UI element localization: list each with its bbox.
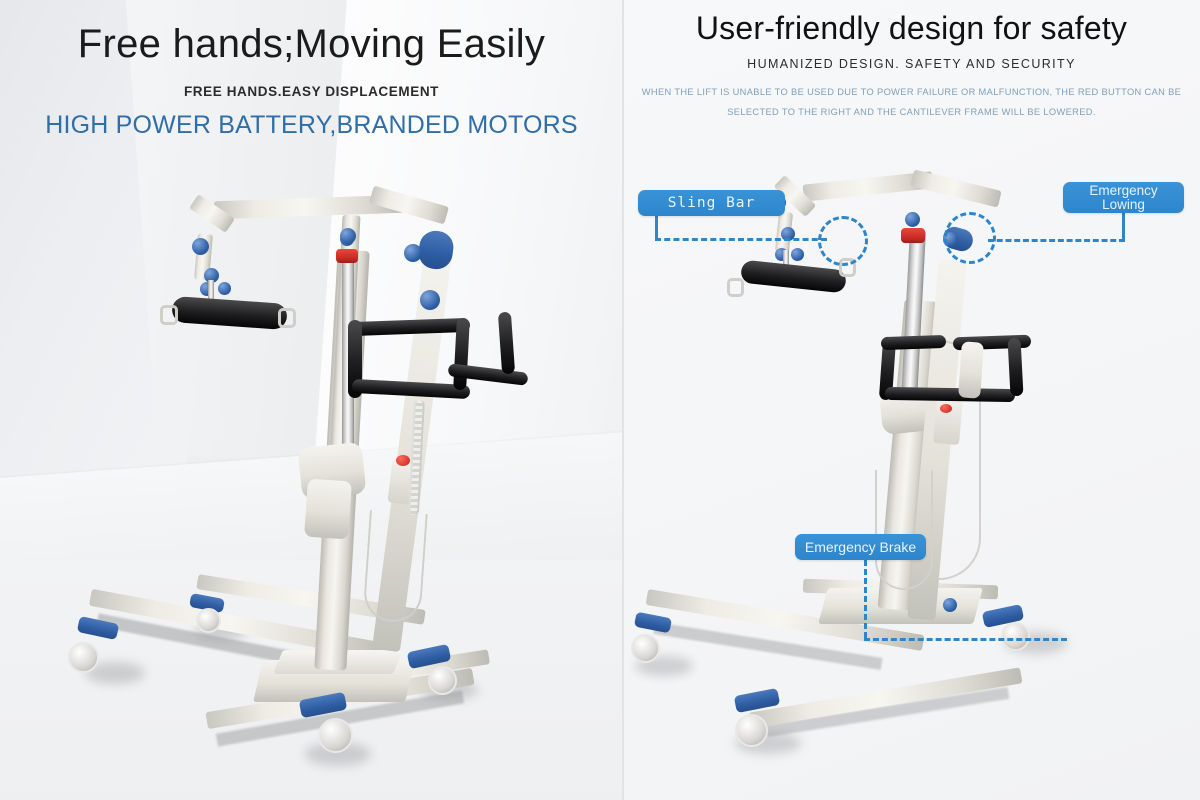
callout-sling-bar-label: Sling Bar: [668, 195, 756, 211]
sling-bar-pad: [171, 296, 288, 330]
hand-control-cord: [362, 510, 428, 624]
caster-wheel: [318, 718, 353, 753]
caster-wheel: [631, 634, 660, 663]
push-handle-right: [453, 318, 470, 391]
boom-pivot-knob: [218, 282, 231, 295]
callout-emergency-lowing-label-1: Emergency: [1089, 184, 1157, 198]
battery-pack: [958, 341, 984, 398]
callout-sling-bar-stem: [655, 216, 658, 238]
emergency-lowering-knob: [336, 249, 358, 263]
hand-control-cord: [875, 470, 933, 590]
product-comparison-banner: Free hands;Moving Easily FREE HANDS.EASY…: [0, 0, 1200, 800]
left-tagline: HIGH POWER BATTERY,BRANDED MOTORS: [0, 111, 623, 140]
base-knob: [943, 598, 957, 612]
push-handle-bar: [350, 318, 470, 336]
panel-divider: [622, 0, 624, 800]
push-handle-right-arc: [498, 312, 515, 375]
callout-emergency-lowing[interactable]: Emergency Lowing: [1063, 182, 1184, 213]
sling-hook-left: [160, 305, 178, 325]
right-title: User-friendly design for safety: [623, 10, 1200, 47]
right-subtitle: HUMANIZED DESIGN. SAFETY AND SECURITY: [623, 57, 1200, 71]
left-header: Free hands;Moving Easily FREE HANDS.EASY…: [0, 0, 623, 140]
callout-emergency-lowing-label-2: Lowing: [1102, 198, 1145, 212]
callout-emergency-brake-dash-horizontal: [864, 638, 1067, 641]
sling-bar-pad: [740, 260, 847, 294]
sling-hook-left: [727, 278, 744, 297]
right-body-line-2: SELECTED TO THE RIGHT AND THE CANTILEVER…: [623, 102, 1200, 122]
actuator-housing-lower: [304, 479, 352, 540]
right-body-line-1: WHEN THE LIFT IS UNABLE TO BE USED DUE T…: [623, 82, 1200, 102]
caster-wheel: [735, 714, 768, 747]
caster-wheel: [68, 642, 99, 673]
push-handle-lower: [885, 387, 1015, 402]
emergency-stop-button: [396, 455, 410, 466]
sling-hook-right: [278, 308, 296, 328]
callout-emergency-brake-label: Emergency Brake: [805, 539, 916, 555]
caster-wheel: [1001, 622, 1030, 651]
right-header: User-friendly design for safety HUMANIZE…: [623, 0, 1200, 123]
caster-wheel: [196, 608, 221, 633]
boom-pivot-knob: [791, 248, 804, 261]
left-panel: Free hands;Moving Easily FREE HANDS.EASY…: [0, 0, 623, 800]
boom-top-knob: [340, 228, 356, 244]
right-panel: User-friendly design for safety HUMANIZE…: [623, 0, 1200, 800]
caster-wheel: [428, 666, 457, 695]
callout-sling-bar-highlight-circle: [818, 216, 868, 266]
boom-pivot-knob: [192, 238, 209, 255]
shoulder-knob: [404, 244, 422, 262]
emergency-lowering-knob: [901, 228, 925, 243]
boom-top-right: [369, 186, 449, 225]
callout-emergency-lowing-dash: [988, 239, 1125, 242]
pivot-knob: [905, 212, 920, 227]
callout-emergency-lowing-highlight-circle: [944, 212, 996, 264]
boom-top-right: [910, 169, 1001, 207]
callout-sling-bar[interactable]: Sling Bar: [638, 190, 785, 216]
callout-emergency-brake-dash-vertical: [864, 560, 867, 638]
handle-adjust-knob: [420, 290, 440, 310]
push-handle-bar: [881, 335, 946, 350]
callout-emergency-brake[interactable]: Emergency Brake: [795, 534, 926, 560]
callout-sling-bar-dash: [655, 238, 827, 241]
left-subtitle: FREE HANDS.EASY DISPLACEMENT: [0, 84, 623, 99]
left-title: Free hands;Moving Easily: [0, 22, 623, 66]
brake-pedal: [634, 612, 672, 634]
callout-emergency-lowing-stem: [1122, 213, 1125, 239]
